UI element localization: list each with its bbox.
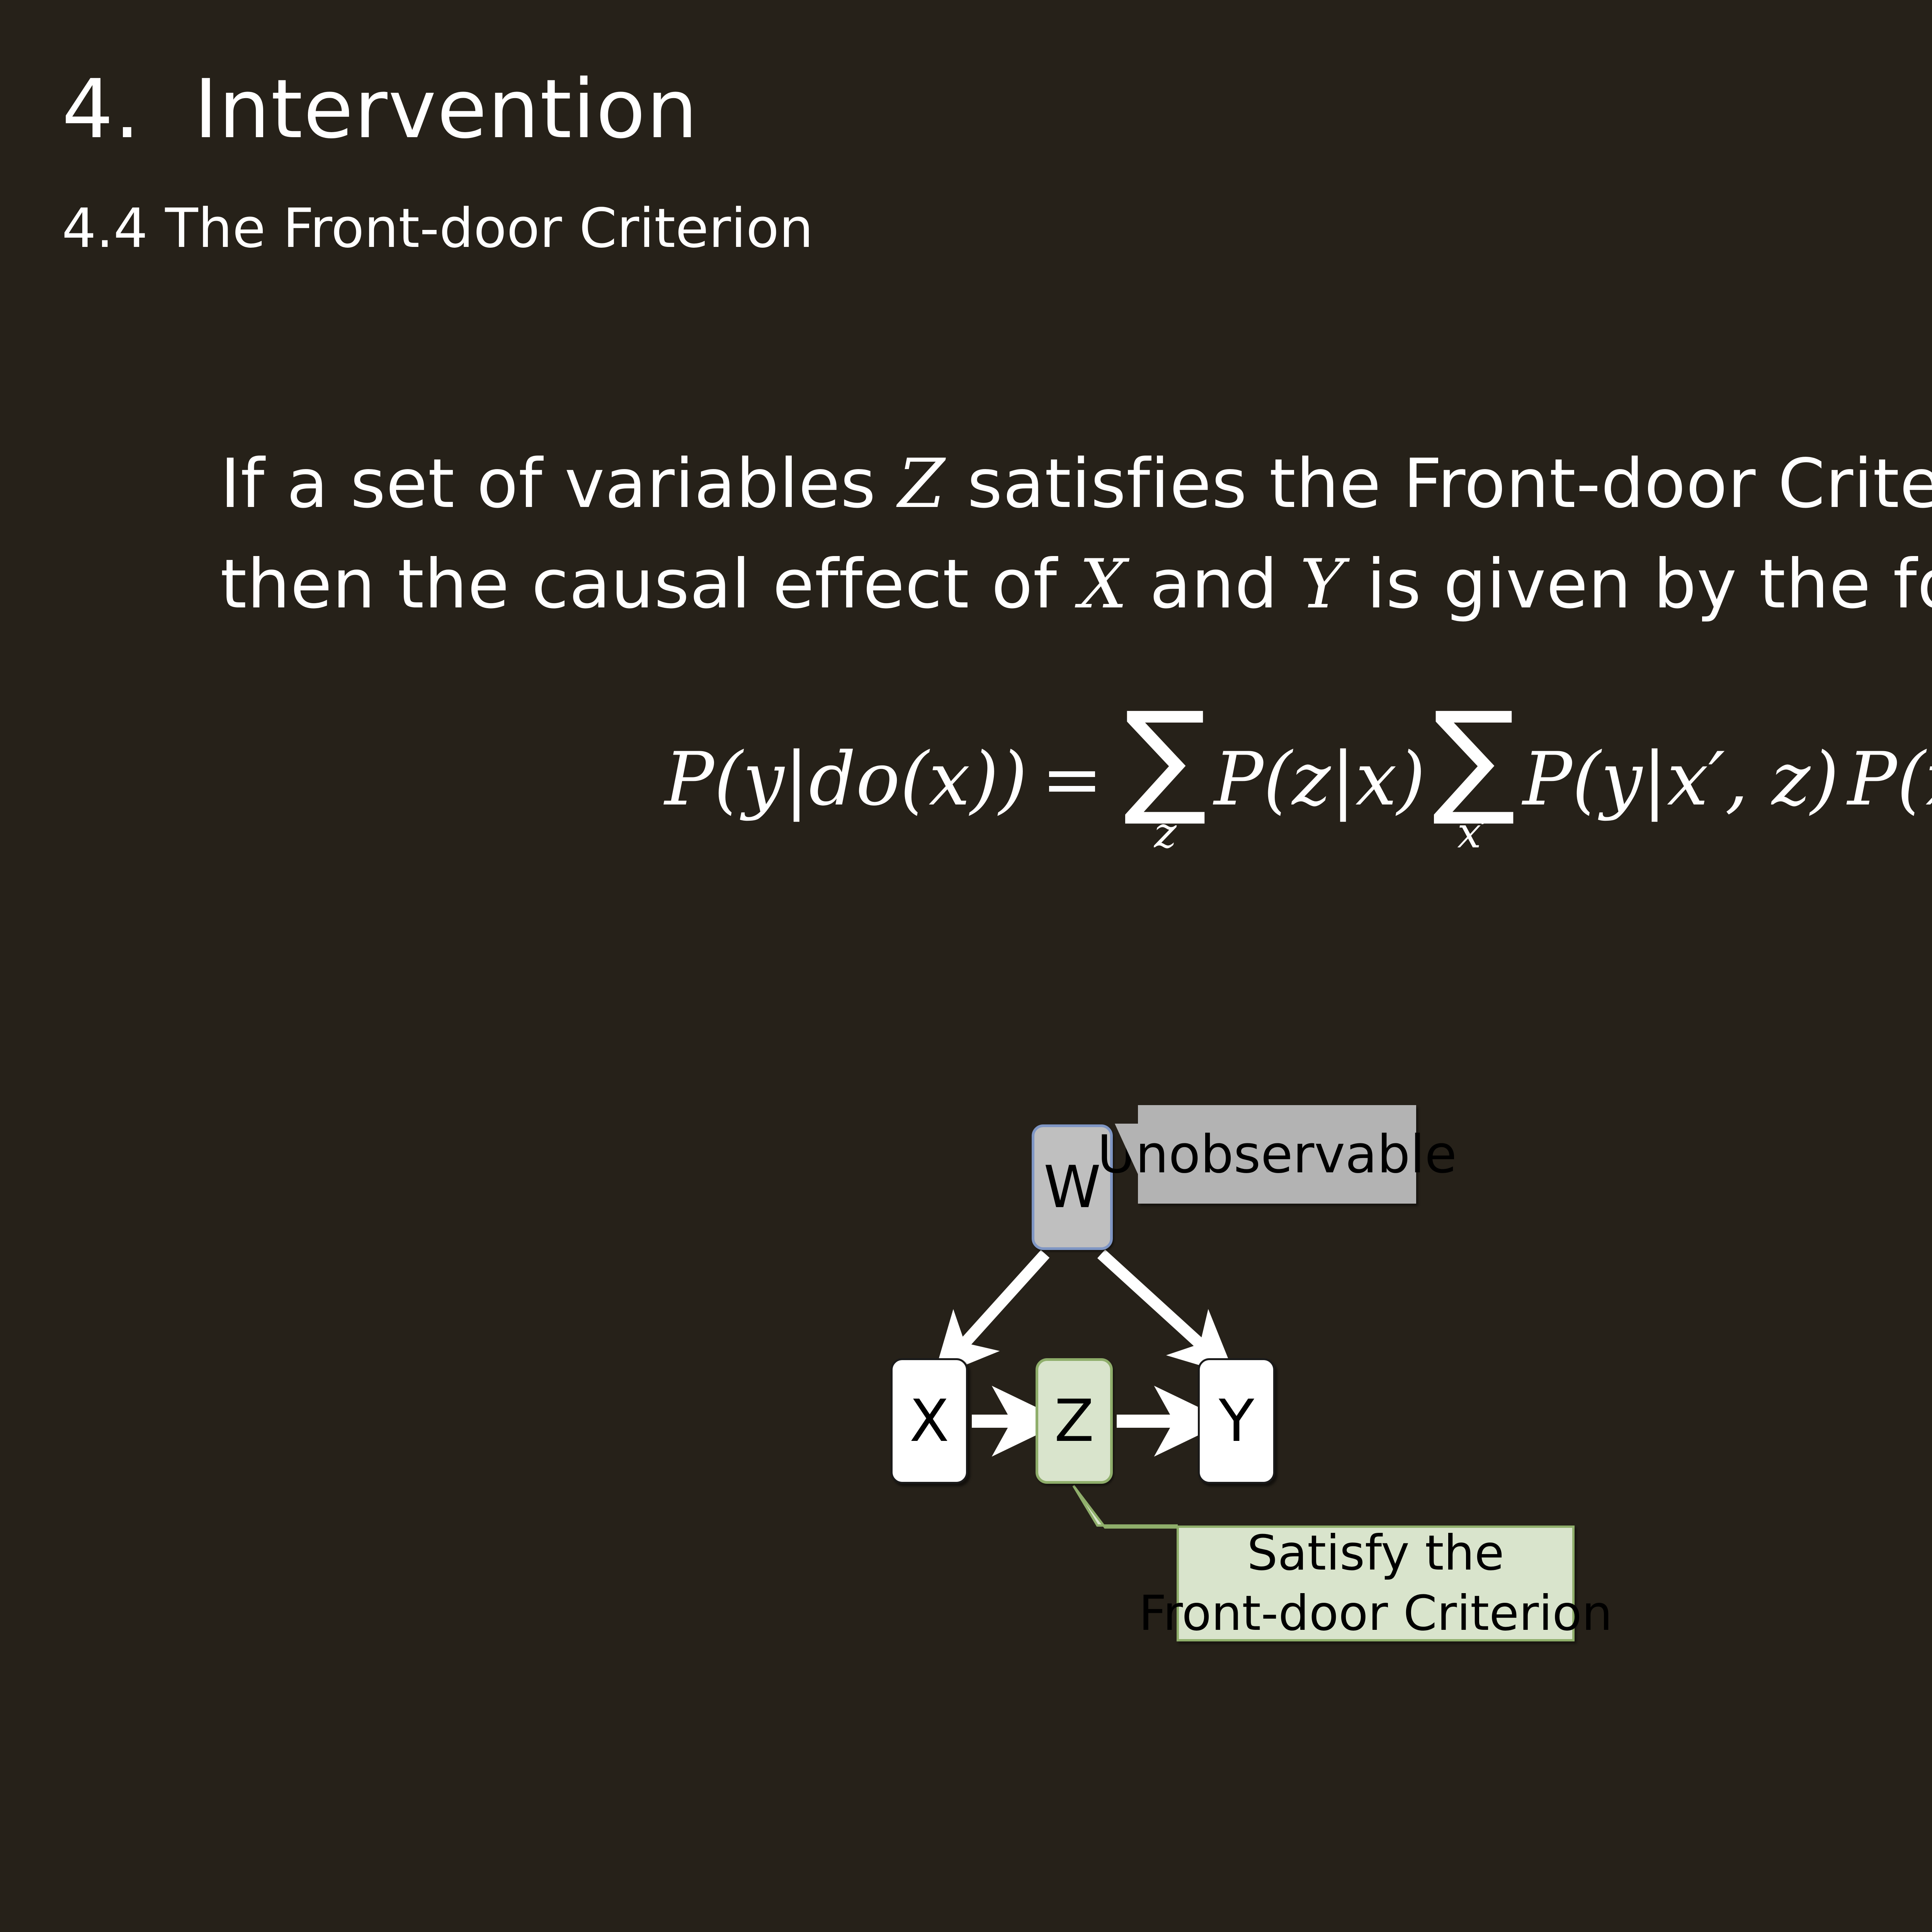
edge-w-to-y xyxy=(1101,1254,1209,1352)
node-z-label: Z xyxy=(1054,1388,1094,1455)
slide-root: 4. Intervention 4.4 The Front-door Crite… xyxy=(0,0,1932,1932)
sigma-icon: ∑ xyxy=(1432,709,1516,806)
edge-w-to-x xyxy=(956,1254,1045,1352)
formula-sum-2: ∑ x′ xyxy=(1432,709,1516,854)
node-y[interactable]: Y xyxy=(1198,1358,1275,1484)
formula-sum-1: ∑ z xyxy=(1124,709,1207,854)
formula-term-3: P(x′) xyxy=(1847,736,1932,822)
page-subtitle: 4.4 The Front-door Criterion xyxy=(62,197,813,260)
formula-term-1: P(z|x) xyxy=(1214,736,1425,822)
node-x-label: X xyxy=(910,1388,949,1455)
formula-sum-2-subscript: x′ xyxy=(1457,811,1491,854)
callout-frontdoor-tail xyxy=(1073,1486,1177,1527)
body-text-line-2: then the causal effect of X and Y is giv… xyxy=(220,551,1932,618)
callout-unobservable-label: Unobservable xyxy=(1097,1124,1457,1185)
formula-lhs: P(y|do(x)) xyxy=(665,736,1027,822)
node-z[interactable]: Z xyxy=(1036,1358,1113,1484)
front-door-formula: P(y|do(x)) = ∑ z P(z|x) ∑ x′ P(y|x′, z) … xyxy=(665,707,1932,852)
node-x[interactable]: X xyxy=(891,1358,968,1484)
callout-frontdoor: Satisfy the Front-door Criterion xyxy=(1177,1526,1575,1641)
diagram-arrows xyxy=(850,1101,1932,1797)
page-title: 4. Intervention xyxy=(62,62,699,156)
callout-unobservable-tail xyxy=(1115,1124,1139,1176)
formula-equals: = xyxy=(1041,736,1103,822)
formula-sum-1-subscript: z xyxy=(1154,811,1177,854)
callout-unobservable: Unobservable xyxy=(1138,1105,1416,1204)
node-y-label: Y xyxy=(1219,1388,1254,1455)
sigma-icon: ∑ xyxy=(1124,709,1207,806)
body-text-line-1: If a set of variables Z satisfies the Fr… xyxy=(220,450,1932,518)
formula-term-2: P(y|x′, z) xyxy=(1523,736,1839,822)
callout-frontdoor-line-2: Front-door Criterion xyxy=(1139,1583,1612,1644)
node-w-label: W xyxy=(1044,1154,1101,1221)
causal-graph-diagram: W X Z Y Unobservable Satisfy the Front-d… xyxy=(850,1101,1932,1797)
callout-frontdoor-line-1: Satisfy the xyxy=(1247,1523,1504,1583)
